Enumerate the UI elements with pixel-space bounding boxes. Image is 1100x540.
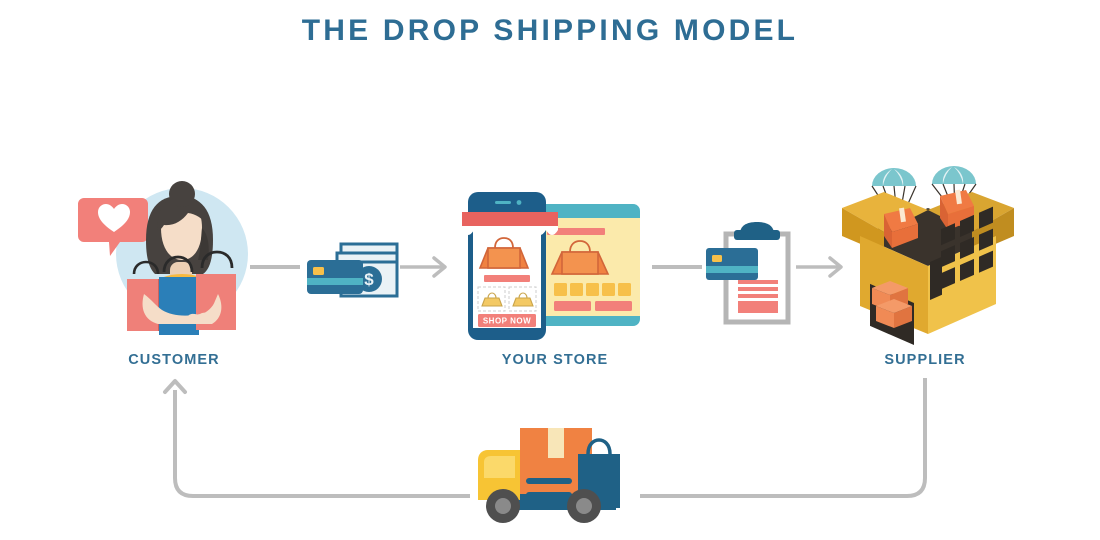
connector-delivery-truck[interactable]	[468, 420, 620, 526]
arrow-order-to-supplier	[796, 258, 841, 276]
color-swatches	[554, 283, 631, 296]
bag-middle	[159, 277, 199, 335]
truck-cargo-tape	[548, 428, 564, 458]
truck-stripe-1	[526, 478, 572, 484]
delivery-truck-icon	[468, 420, 620, 526]
card-chip-icon	[313, 267, 324, 275]
clipboard-card-chip-icon	[712, 255, 722, 262]
arrow-payment-to-store	[400, 258, 445, 276]
browser-button-2	[595, 301, 632, 311]
connector-order-clipboard[interactable]	[704, 222, 796, 326]
payment-money-icon: $	[305, 240, 401, 298]
truck-wheel-front	[486, 489, 520, 523]
truck-wheel-rear	[567, 489, 601, 523]
phone-speaker-icon	[495, 201, 511, 204]
dollar-sign-icon: $	[364, 270, 374, 289]
online-store-phone-illustration: SHOP NOW	[462, 190, 654, 342]
phone-camera-icon	[517, 200, 522, 205]
order-clipboard-icon	[704, 222, 796, 326]
customer-hair-bun	[169, 181, 195, 207]
truck-window	[484, 456, 515, 478]
node-supplier[interactable]	[838, 148, 1018, 340]
page-title: THE DROP SHIPPING MODEL	[0, 14, 1100, 48]
node-your-store[interactable]: SHOP NOW	[462, 190, 654, 342]
credit-card-icon	[307, 260, 363, 294]
infographic-canvas: THE DROP SHIPPING MODEL	[0, 0, 1100, 540]
node-label-customer: CUSTOMER	[104, 352, 244, 368]
warehouse-door	[930, 257, 942, 300]
warehouse-inner-boxes	[872, 281, 912, 328]
customer-shopper-illustration	[78, 176, 268, 346]
node-label-supplier: SUPPLIER	[860, 352, 990, 368]
price-bar	[484, 275, 530, 282]
connector-payment-money[interactable]: $	[305, 240, 401, 298]
card-stripe	[307, 278, 363, 285]
supplier-warehouse-box-illustration	[838, 148, 1018, 340]
truck-stripe-2	[526, 492, 572, 498]
shop-now-label: SHOP NOW	[483, 317, 531, 326]
smartphone-storefront: SHOP NOW	[462, 192, 558, 340]
order-total-bar	[738, 301, 778, 313]
clipboard-credit-card-icon	[706, 248, 758, 280]
node-customer[interactable]	[78, 176, 268, 346]
browser-button-1	[554, 301, 591, 311]
node-label-your-store: YOUR STORE	[485, 352, 625, 368]
shop-now-button[interactable]: SHOP NOW	[478, 314, 536, 327]
